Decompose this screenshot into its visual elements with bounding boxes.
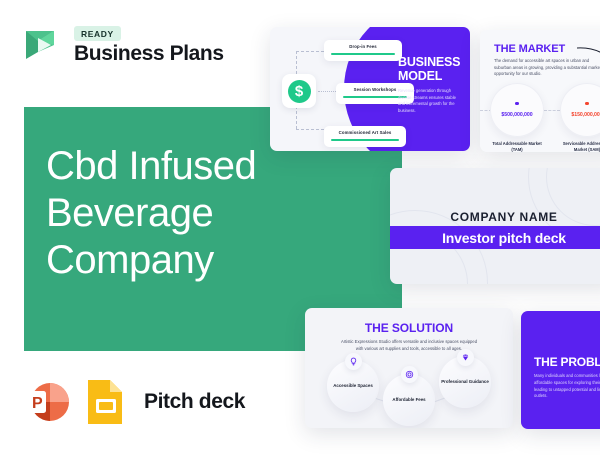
problem-body: Many individuals and communities lack ac…	[534, 373, 600, 400]
slide-the-solution[interactable]: THE SOLUTION Artistic Expressions Studio…	[305, 308, 513, 428]
business-model-item[interactable]: Drop-in Fees	[324, 40, 402, 61]
poster-canvas: READY Business Plans Cbd Infused Beverag…	[0, 0, 600, 461]
dollar-sign-icon: $	[282, 74, 316, 108]
solution-heading: THE SOLUTION	[305, 321, 513, 335]
solution-body: Artistic Expressions Studio offers versa…	[339, 339, 479, 353]
slide-the-problem[interactable]: THE PROBLEM Many individuals and communi…	[521, 311, 600, 429]
brand-name: Business Plans	[74, 43, 224, 64]
page-title: Cbd Infused Beverage Company	[46, 143, 386, 285]
item-label: Commissioned Art Sales	[331, 130, 399, 135]
stat-value: $500,000,000	[501, 112, 532, 118]
connector-middle	[318, 91, 336, 92]
curved-arrow-icon	[576, 44, 600, 81]
google-slides-icon	[84, 376, 128, 428]
market-heading: THE MARKET	[494, 43, 565, 55]
stat-value: $150,000,000	[571, 112, 600, 118]
stat-caption: Total Addressable Market (TAM)	[487, 141, 547, 152]
business-model-body: Revenue generation through diverse strea…	[398, 88, 464, 114]
node-label: Affordable Fees	[392, 397, 425, 404]
market-dash-mid	[544, 110, 560, 111]
problem-heading: THE PROBLEM	[534, 355, 600, 369]
business-model-text: BUSINESS MODEL Revenue generation throug…	[398, 55, 464, 114]
ready-badge: READY	[74, 26, 121, 41]
market-stat-circle: $500,000,000	[490, 83, 544, 137]
connector-top	[296, 51, 324, 52]
business-model-item[interactable]: Commissioned Art Sales	[324, 126, 406, 147]
brand-text: READY Business Plans	[74, 26, 224, 64]
slide-company-name[interactable]: COMPANY NAME Investor pitch deck	[390, 168, 600, 284]
business-model-heading: BUSINESS MODEL	[398, 55, 464, 83]
svg-text:P: P	[32, 395, 43, 412]
slide-business-model[interactable]: $ Drop-in Fees Session Workshops Commiss…	[270, 27, 470, 151]
pitch-deck-label: Pitch deck	[144, 390, 245, 414]
company-subtitle: Investor pitch deck	[442, 230, 566, 246]
company-name-heading: COMPANY NAME	[390, 210, 600, 224]
node-label: Accessible Spaces	[333, 383, 373, 390]
powerpoint-icon: P	[20, 376, 72, 428]
item-label: Drop-in Fees	[331, 44, 395, 49]
lightbulb-icon	[345, 353, 362, 370]
market-stat-circle: $150,000,000	[560, 83, 600, 137]
play-triangle-logo-icon	[18, 22, 64, 68]
slide-the-market[interactable]: THE MARKET The demand for accessible art…	[480, 30, 600, 152]
stat-dot	[515, 102, 518, 105]
connector-bottom	[296, 129, 324, 130]
diamond-icon	[457, 349, 474, 366]
brand-logo: READY Business Plans	[18, 22, 224, 68]
format-row: P Pitch deck	[20, 376, 245, 428]
stat-caption: Serviceable Addressable Market (SAM)	[557, 141, 600, 152]
stat-dot	[585, 102, 588, 105]
coin-icon	[401, 366, 418, 383]
investor-pitch-deck-band: Investor pitch deck	[390, 226, 600, 249]
node-label: Professional Guidance	[441, 379, 489, 386]
